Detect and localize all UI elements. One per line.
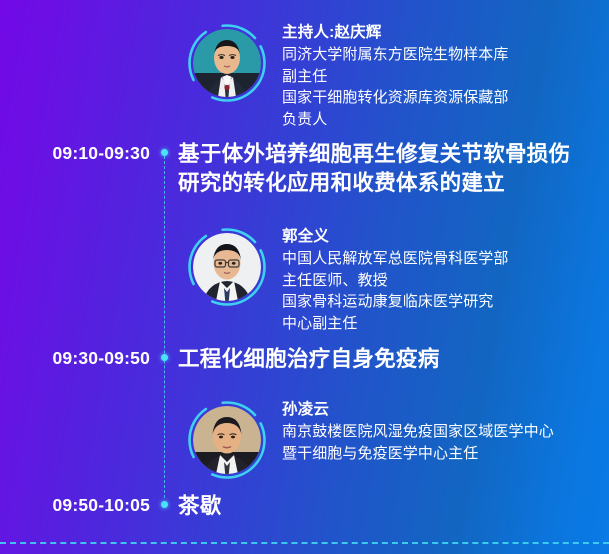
speaker-affiliation-line: 国家骨科运动康复临床医学研究 <box>282 291 509 313</box>
timeline-dot-icon <box>150 492 178 508</box>
timeline-dot-icon <box>150 140 178 156</box>
avatar <box>186 226 268 308</box>
speaker-affiliation-line: 国家干细胞转化资源库资源保藏部 <box>282 87 509 109</box>
avatar <box>186 399 268 481</box>
speaker-affiliation-line: 南京鼓楼医院风湿免疫国家区域医学中心 <box>282 421 554 443</box>
avatar-photo-2 <box>193 233 261 301</box>
session-row-1: 09:10-09:30 基于体外培养细胞再生修复关节软骨损伤 研究的转化应用和收… <box>0 140 609 198</box>
session-title: 工程化细胞治疗自身免疫病 <box>178 345 609 374</box>
avatar <box>186 22 268 104</box>
speaker-affiliation-line: 中国人民解放军总医院骨科医学部 <box>282 248 509 270</box>
speaker-affiliation-line: 负责人 <box>282 109 509 131</box>
speaker-block-2: 郭全义 中国人民解放军总医院骨科医学部 主任医师、教授 国家骨科运动康复临床医学… <box>186 226 509 334</box>
session-title-line: 茶歇 <box>178 492 589 521</box>
session-time: 09:30-09:50 <box>0 345 150 371</box>
agenda-poster: 主持人:赵庆辉 同济大学附属东方医院生物样本库 副主任 国家干细胞转化资源库资源… <box>0 0 609 554</box>
bottom-dashed-divider <box>0 542 609 544</box>
speaker-info-1: 主持人:赵庆辉 同济大学附属东方医院生物样本库 副主任 国家干细胞转化资源库资源… <box>268 22 509 130</box>
speaker-info-2: 郭全义 中国人民解放军总医院骨科医学部 主任医师、教授 国家骨科运动康复临床医学… <box>268 226 509 334</box>
session-title-line: 工程化细胞治疗自身免疫病 <box>178 345 589 374</box>
speaker-affiliation-line: 主任医师、教授 <box>282 270 509 292</box>
speaker-block-1: 主持人:赵庆辉 同济大学附属东方医院生物样本库 副主任 国家干细胞转化资源库资源… <box>186 22 509 130</box>
speaker-affiliation-line: 中心副主任 <box>282 313 509 335</box>
timeline-dashed-connector <box>164 156 165 498</box>
session-title: 基于体外培养细胞再生修复关节软骨损伤 研究的转化应用和收费体系的建立 <box>178 140 609 198</box>
speaker-info-3: 孙凌云 南京鼓楼医院风湿免疫国家区域医学中心 暨干细胞与免疫医学中心主任 <box>268 399 554 464</box>
speaker-name: 郭全义 <box>282 226 509 248</box>
avatar-photo-1 <box>193 29 261 97</box>
speaker-block-3: 孙凌云 南京鼓楼医院风湿免疫国家区域医学中心 暨干细胞与免疫医学中心主任 <box>186 399 554 481</box>
session-title-line: 基于体外培养细胞再生修复关节软骨损伤 <box>178 140 589 169</box>
speaker-affiliation-line: 暨干细胞与免疫医学中心主任 <box>282 443 554 465</box>
session-title: 茶歇 <box>178 492 609 521</box>
session-row-3: 09:50-10:05 茶歇 <box>0 492 609 521</box>
session-row-2: 09:30-09:50 工程化细胞治疗自身免疫病 <box>0 345 609 374</box>
timeline-dot-icon <box>150 345 178 361</box>
speaker-name: 主持人:赵庆辉 <box>282 22 509 44</box>
speaker-affiliation-line: 副主任 <box>282 66 509 88</box>
session-time: 09:10-09:30 <box>0 140 150 166</box>
session-time: 09:50-10:05 <box>0 492 150 518</box>
speaker-name: 孙凌云 <box>282 399 554 421</box>
speaker-affiliation-line: 同济大学附属东方医院生物样本库 <box>282 44 509 66</box>
avatar-photo-3 <box>193 406 261 474</box>
session-title-line: 研究的转化应用和收费体系的建立 <box>178 169 589 198</box>
